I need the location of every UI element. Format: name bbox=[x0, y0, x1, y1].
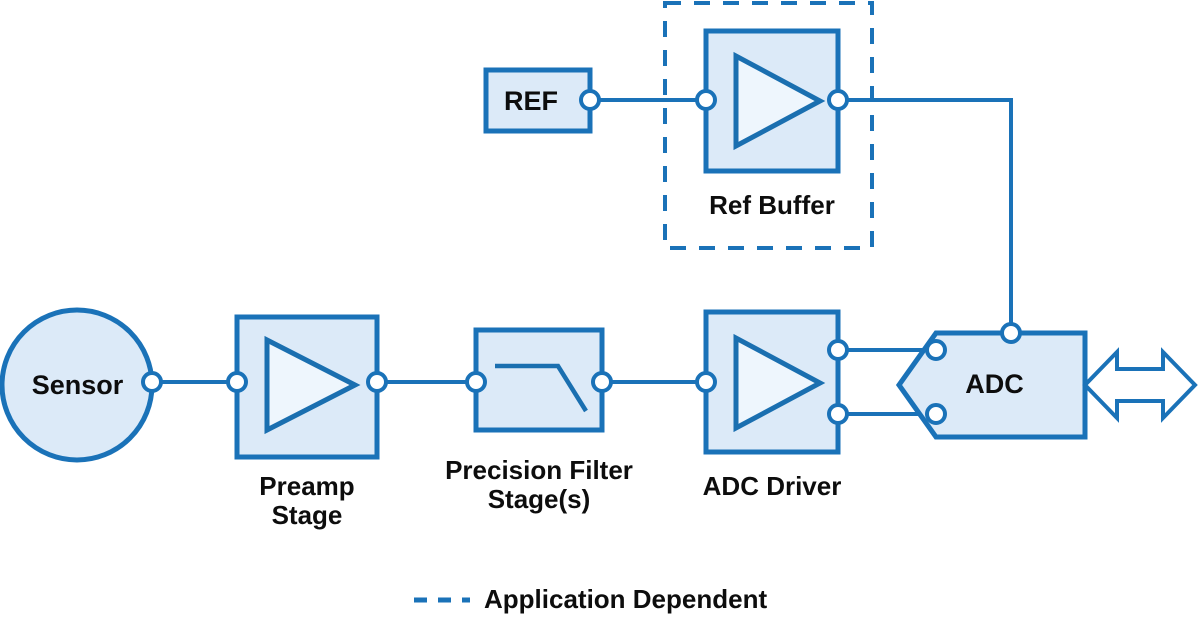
node-filter-output bbox=[593, 373, 611, 391]
filter-block-fill bbox=[476, 330, 602, 430]
node-ref-output bbox=[581, 91, 599, 109]
node-ref-buffer-input bbox=[697, 91, 715, 109]
preamp-label: Preamp Stage bbox=[187, 472, 427, 530]
node-preamp-output bbox=[368, 373, 386, 391]
node-adc-driver-input bbox=[697, 373, 715, 391]
diagram-canvas bbox=[0, 0, 1200, 618]
node-adc-driver-output-positive bbox=[829, 341, 847, 359]
signal-chain-diagram: Sensor Preamp Stage Precision Filter Sta… bbox=[0, 0, 1200, 618]
adc-driver-label: ADC Driver bbox=[652, 472, 892, 501]
legend-item-label: Application Dependent bbox=[484, 585, 904, 614]
filter-label: Precision Filter Stage(s) bbox=[404, 456, 674, 514]
node-filter-input bbox=[467, 373, 485, 391]
ref-buffer-label: Ref Buffer bbox=[652, 191, 892, 220]
node-adc-input-positive bbox=[927, 341, 945, 359]
ref-label: REF bbox=[486, 86, 576, 116]
node-adc-driver-output-negative bbox=[829, 405, 847, 423]
node-ref-buffer-output bbox=[829, 91, 847, 109]
adc-label: ADC bbox=[912, 369, 1077, 399]
adc-digital-output-arrow-icon bbox=[1085, 352, 1195, 418]
node-preamp-input bbox=[228, 373, 246, 391]
sensor-label: Sensor bbox=[0, 370, 155, 400]
node-adc-input-negative bbox=[927, 405, 945, 423]
node-adc-reference-input bbox=[1002, 324, 1020, 342]
